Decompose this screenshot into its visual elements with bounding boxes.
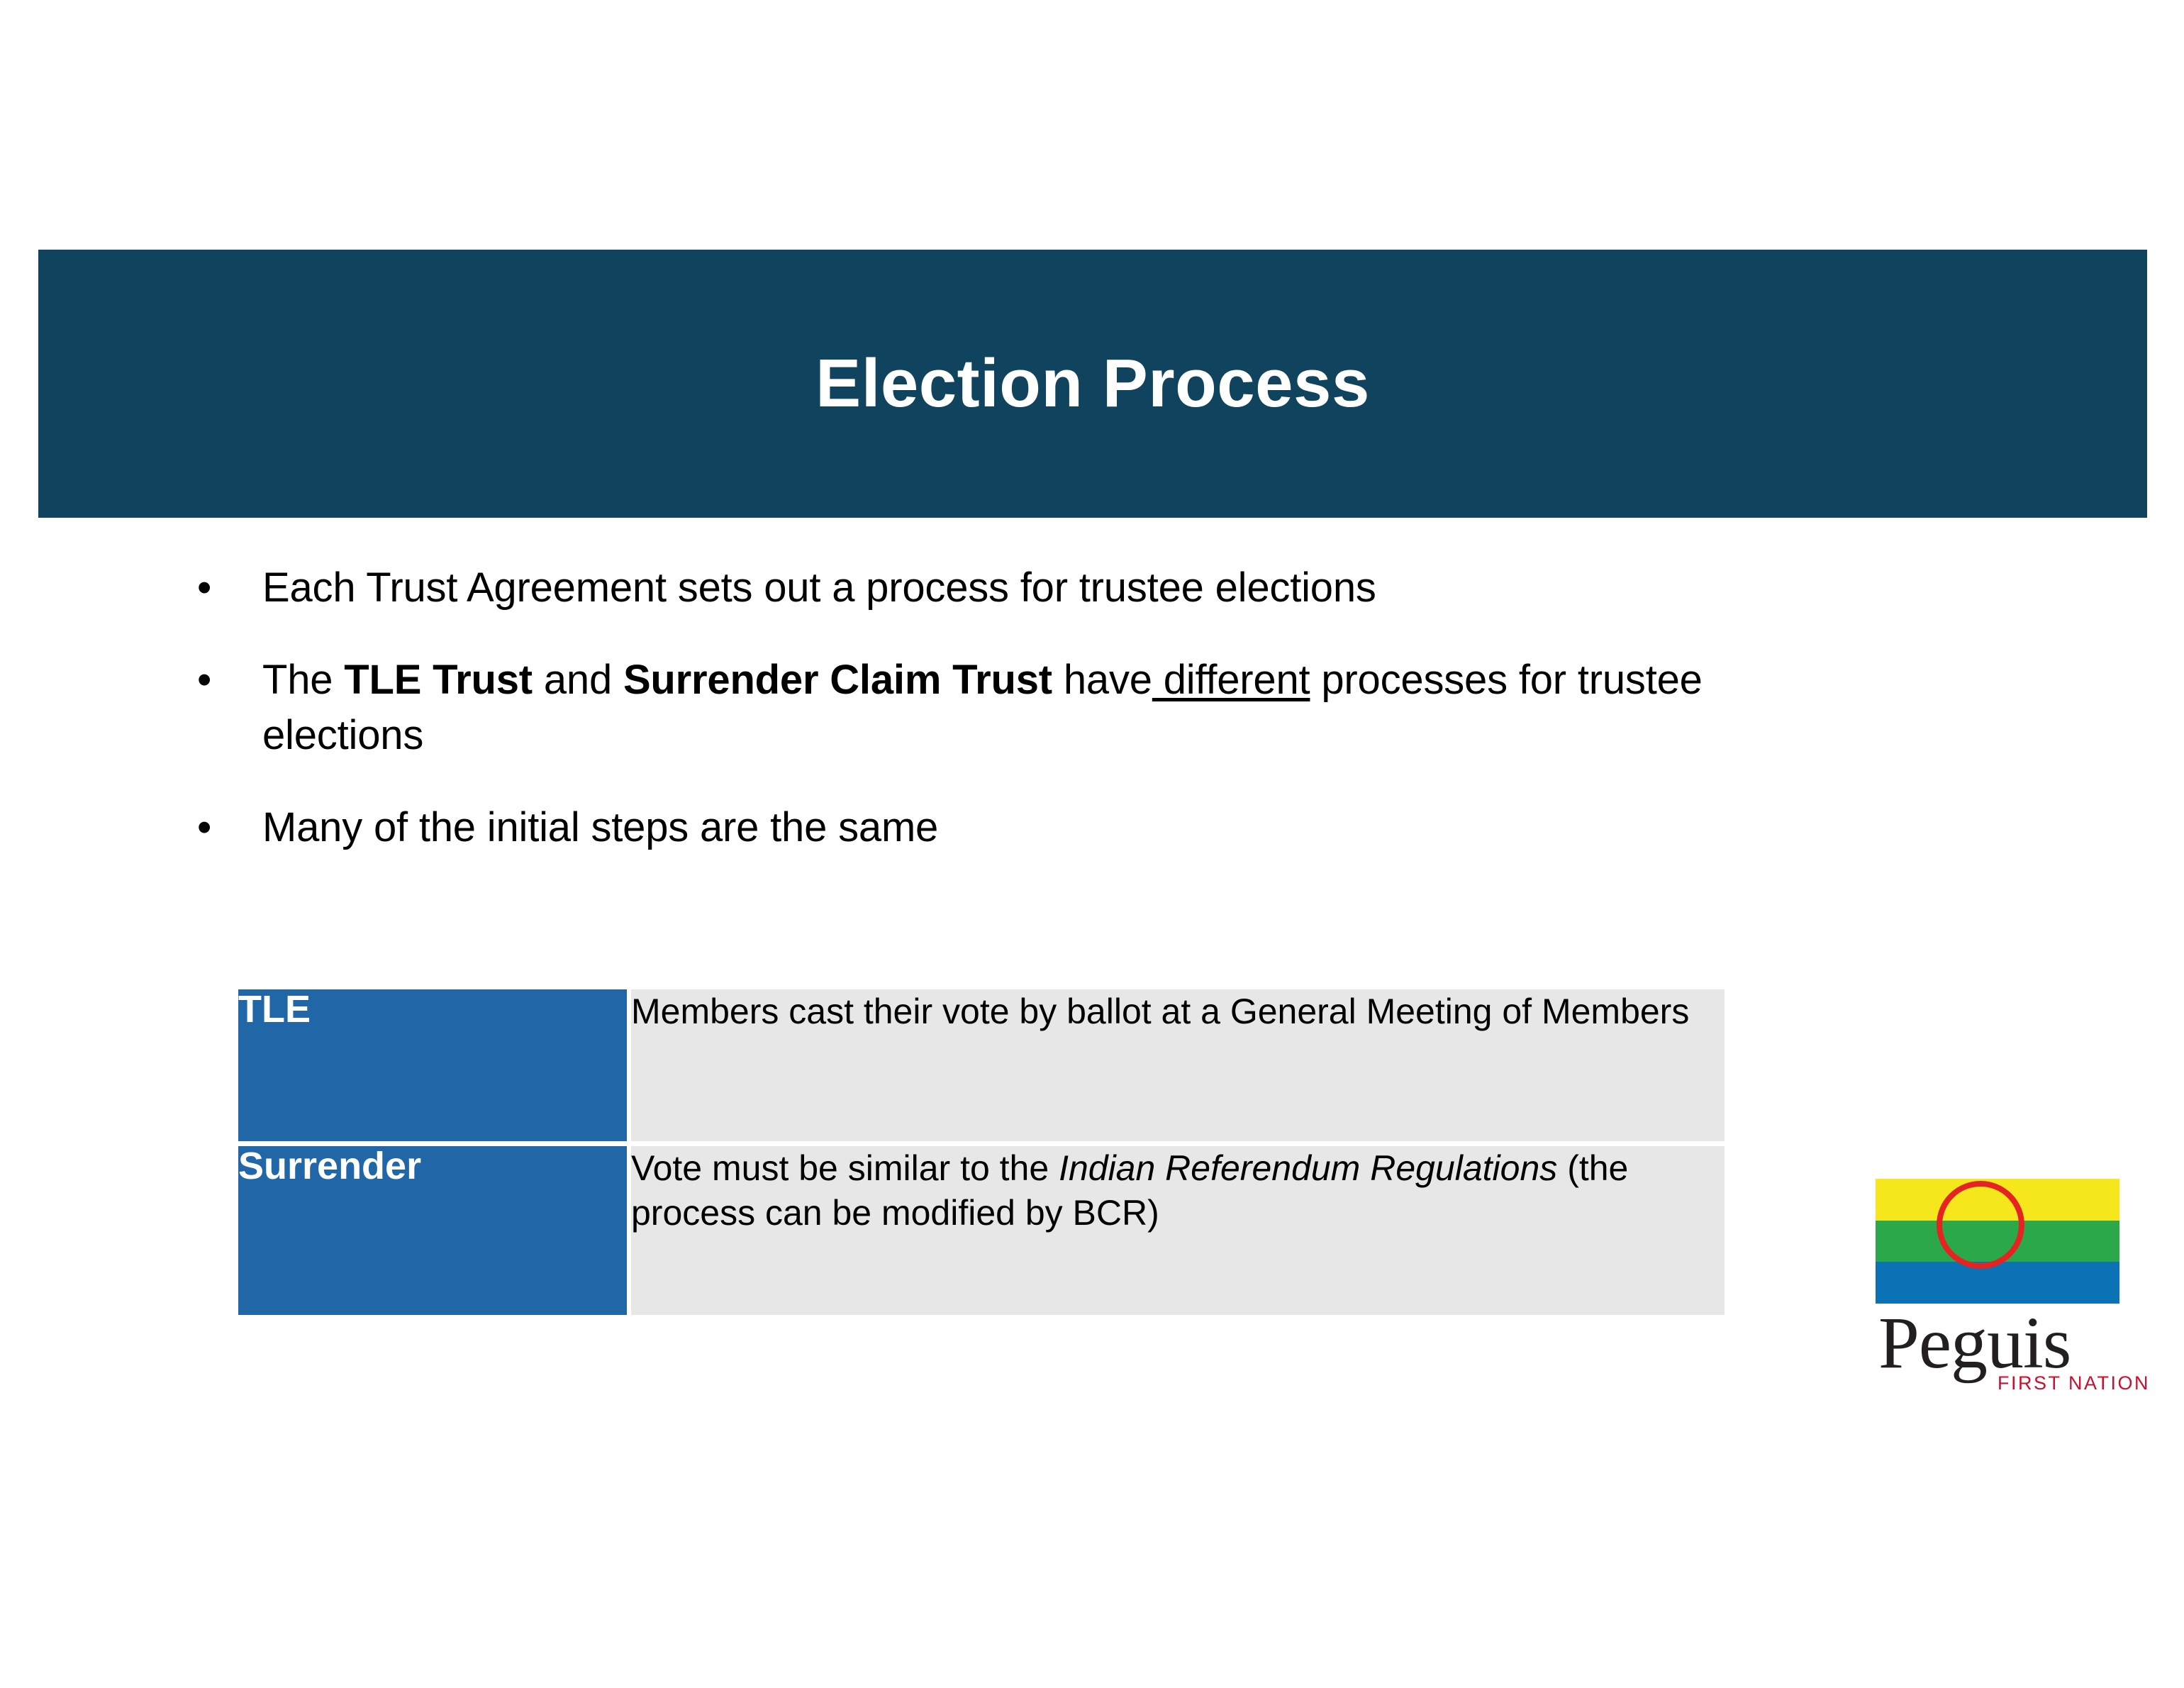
logo-tagline: FIRST NATION [1998,1372,2150,1394]
bullet-text: The TLE Trust and Surrender Claim Trust … [262,653,1815,763]
bullet-segment: have [1052,657,1152,703]
bullet-segment: Many of the initial steps are the same [262,804,938,850]
bullet-icon: • [184,653,262,708]
bullet-icon: • [184,800,262,855]
bullet-segment: Each Trust Agreement sets out a process … [262,565,1376,611]
list-item: • The TLE Trust and Surrender Claim Trus… [184,653,1815,763]
bullet-icon: • [184,560,262,616]
flag-circle-icon [1937,1181,2024,1269]
slide-canvas: Election Process • Each Trust Agreement … [0,0,2184,1688]
cell-segment-italic: Indian Referendum Regulations [1059,1148,1557,1188]
cell-segment: Vote must be similar to the [631,1148,1059,1188]
peguis-first-nation-logo: Peguis FIRST NATION [1876,1179,2119,1413]
bullet-segment: and [533,657,623,703]
title-banner: Election Process [38,250,2147,518]
bullet-text: Each Trust Agreement sets out a process … [262,560,1815,616]
cell-segment: Members cast their vote by ballot at a G… [631,992,1689,1031]
table-row: TLE Members cast their vote by ballot at… [238,989,1725,1141]
bullet-segment: The [262,657,344,703]
bullet-text: Many of the initial steps are the same [262,800,1815,855]
row-body-tle: Members cast their vote by ballot at a G… [631,989,1725,1141]
row-body-surrender: Vote must be similar to the Indian Refer… [631,1146,1725,1315]
bullet-segment-bold: TLE Trust [344,657,533,703]
list-item: • Many of the initial steps are the same [184,800,1815,855]
flag-stripe-blue [1876,1262,2119,1304]
row-label-tle: TLE [238,989,627,1141]
comparison-table: TLE Members cast their vote by ballot at… [234,984,1729,1320]
bullet-segment-underline: different [1152,657,1310,703]
table-row: Surrender Vote must be similar to the In… [238,1146,1725,1315]
page-title: Election Process [815,350,1370,418]
logo-wordmark: Peguis [1878,1306,2071,1380]
bullet-segment-bold: Surrender Claim Trust [623,657,1052,703]
row-label-surrender: Surrender [238,1146,627,1315]
bullet-list: • Each Trust Agreement sets out a proces… [184,560,1815,892]
list-item: • Each Trust Agreement sets out a proces… [184,560,1815,616]
peguis-flag-icon [1876,1179,2119,1304]
